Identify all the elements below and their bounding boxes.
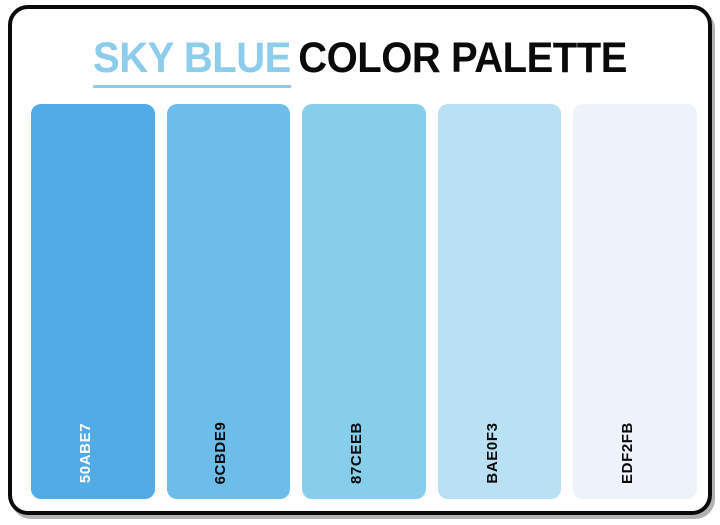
swatch-hex-label: 87CEEB xyxy=(349,422,364,484)
palette-canvas: SKY BLUECOLOR PALETTE 50ABE7 6CBDE9 87CE… xyxy=(0,0,720,525)
palette-card: SKY BLUECOLOR PALETTE 50ABE7 6CBDE9 87CE… xyxy=(8,5,712,515)
color-swatch[interactable]: BAE0F3 xyxy=(438,104,562,499)
color-swatch[interactable]: EDF2FB xyxy=(573,104,697,499)
color-swatch[interactable]: 50ABE7 xyxy=(31,104,155,499)
color-swatch[interactable]: 87CEEB xyxy=(302,104,426,499)
page-title: SKY BLUECOLOR PALETTE xyxy=(36,35,683,81)
title-plain-text: COLOR PALETTE xyxy=(298,34,627,82)
swatch-row: 50ABE7 6CBDE9 87CEEB BAE0F3 EDF2FB xyxy=(31,104,697,499)
swatch-hex-label: 50ABE7 xyxy=(78,423,93,483)
swatch-hex-label: BAE0F3 xyxy=(485,422,500,483)
color-swatch[interactable]: 6CBDE9 xyxy=(167,104,291,499)
title-accent-text: SKY BLUE xyxy=(93,34,291,88)
swatch-hex-label: 6CBDE9 xyxy=(213,422,228,485)
swatch-hex-label: EDF2FB xyxy=(620,422,635,484)
